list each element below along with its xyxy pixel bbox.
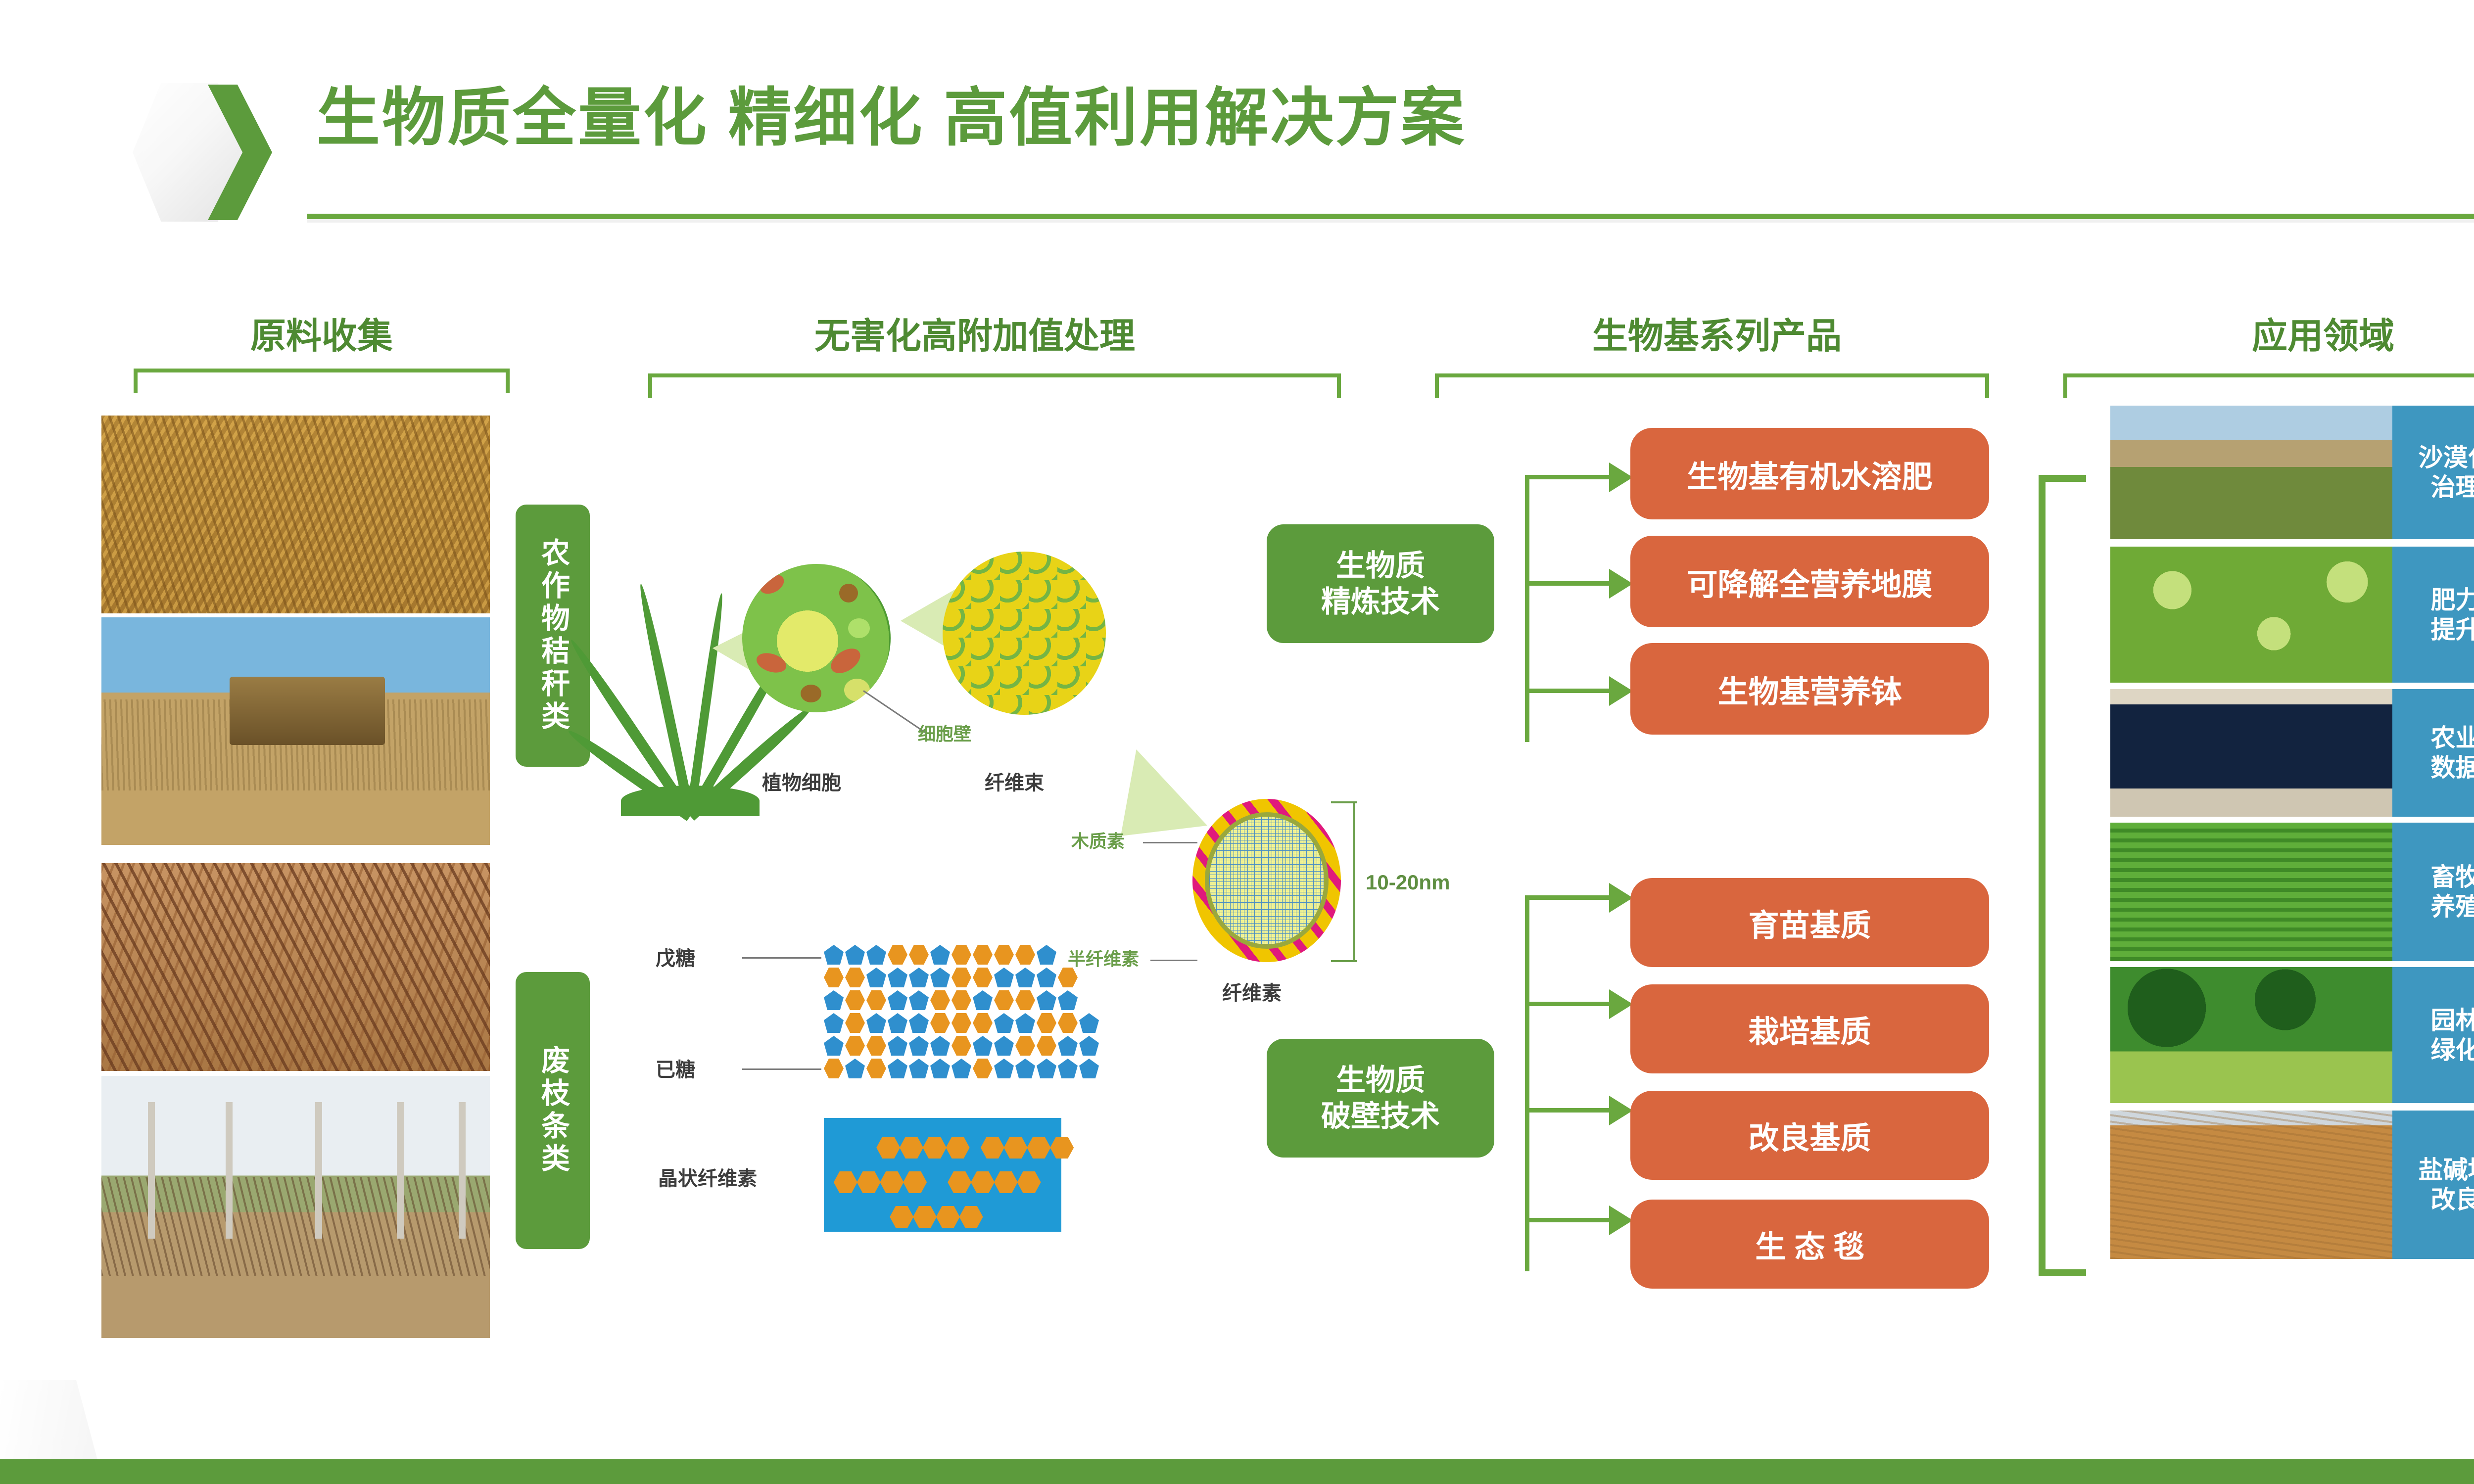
sugar-chain-row (824, 1013, 1100, 1034)
pentose-unit (994, 968, 1014, 987)
product-box-seedling-substrate[interactable]: 育苗基质 (1630, 878, 1989, 967)
label-fiber-bundle: 纤维束 (985, 767, 1044, 795)
hexose-unit (930, 990, 950, 1010)
glucose-unit (994, 1171, 1018, 1193)
glucose-unit (981, 1137, 1004, 1159)
section-label-products: 生物基系列产品 (1420, 307, 2014, 359)
footer-bar (0, 1459, 2474, 1484)
connector-branch-cellwall-3 (1525, 1108, 1614, 1113)
glucose-unit (857, 1171, 881, 1193)
hexose-unit (1015, 990, 1035, 1010)
crystalline-cellulose-panel (824, 1118, 1061, 1232)
hexose-unit (930, 1013, 950, 1033)
zoom-cone-fiber (1121, 749, 1207, 836)
pentose-unit (994, 1059, 1014, 1078)
hexose-unit (1037, 1036, 1056, 1056)
dimension-line (1353, 801, 1355, 962)
application-row-landscaping[interactable]: 园林 绿化 (2110, 967, 2474, 1103)
organelle (844, 679, 870, 701)
glucose-unit (1050, 1137, 1074, 1159)
pentose-unit (824, 1036, 844, 1056)
label-cell-wall: 细胞壁 (918, 720, 971, 745)
pentose-unit (824, 990, 844, 1010)
label-lignin: 木质素 (1071, 827, 1125, 853)
hexose-unit (824, 968, 844, 987)
pentose-unit (845, 1059, 865, 1078)
sugar-chain-row (824, 945, 1058, 966)
pentose-unit (1037, 968, 1056, 987)
organelle (801, 685, 821, 702)
app-label-line2: 提升 (2431, 615, 2474, 645)
hexose-unit (973, 945, 993, 965)
fence-post (459, 1102, 466, 1239)
pentose-unit (1015, 1059, 1035, 1078)
arrow-refining-1 (1609, 463, 1633, 492)
organelle (826, 644, 864, 678)
tech-cellwall-line1: 生物质 (1321, 1062, 1440, 1098)
pentose-unit (866, 945, 886, 965)
label-cellulose: 纤维素 (1222, 977, 1282, 1006)
pentose-unit (866, 1013, 886, 1033)
title-underline-shadow (307, 219, 2474, 223)
fence-post (397, 1102, 404, 1239)
pentose-unit (909, 990, 929, 1010)
grass-tuft (621, 786, 760, 816)
hexose-unit (866, 1036, 886, 1056)
hexose-unit (994, 945, 1014, 965)
pentose-unit (1037, 1059, 1056, 1078)
connector-trunk-cellwall (1525, 895, 1529, 1271)
hexose-unit (1015, 945, 1035, 965)
section-label-applications: 应用领域 (2108, 307, 2474, 359)
fence-post (148, 1102, 155, 1239)
hexose-unit (1058, 968, 1078, 987)
connector-branch-refining-3 (1525, 689, 1614, 693)
pentose-leader-line (742, 957, 821, 959)
label-pentose: 戊糖 (656, 942, 695, 971)
glucose-unit (946, 1137, 970, 1159)
application-row-fertility[interactable]: 肥力 提升 (2110, 547, 2474, 683)
photo-desertification-control (2110, 406, 2392, 539)
hexose-unit (1058, 1013, 1078, 1033)
lignin-leader-line (1143, 842, 1197, 843)
arrow-refining-2 (1609, 569, 1633, 599)
pentose-unit (1058, 1036, 1078, 1056)
sugar-chain-row (824, 1036, 1100, 1057)
glucose-unit (1017, 1171, 1041, 1193)
hexose-unit (888, 945, 907, 965)
sugar-chain-row (824, 990, 1079, 1011)
applications-bracket (2039, 475, 2086, 1276)
tech-box-refining[interactable]: 生物质 精炼技术 (1267, 524, 1494, 643)
pentose-unit (888, 1036, 907, 1056)
glucose-unit (936, 1206, 960, 1228)
hexose-unit (952, 945, 971, 965)
pentose-unit (952, 1059, 971, 1078)
section-label-processing: 无害化高附加值处理 (628, 307, 1321, 359)
glucose-unit (876, 1137, 900, 1159)
glucose-unit (890, 1206, 913, 1228)
feedstock-chip-waste-branch: 废枝条类 (516, 972, 590, 1249)
sugar-chain-illustration (824, 945, 1101, 1093)
connector-branch-refining-2 (1525, 581, 1614, 586)
app-label-line1: 盐碱地 (2419, 1155, 2474, 1185)
product-box-water-soluble-fertilizer[interactable]: 生物基有机水溶肥 (1630, 428, 1989, 519)
pentose-unit (1079, 1059, 1099, 1078)
hexose-leader-line (742, 1068, 821, 1070)
application-chip-livestock[interactable]: 畜牧 养殖 (2392, 823, 2474, 961)
pentose-unit (1079, 1036, 1099, 1056)
glucose-unit (1004, 1137, 1028, 1159)
hexose-unit (845, 1036, 865, 1056)
photo-saline-alkali-soil (2110, 1111, 2392, 1259)
bale-shape (230, 677, 385, 745)
arrow-cellwall-4 (1609, 1206, 1633, 1235)
plant-illustration (636, 539, 745, 816)
app-label-line1: 肥力 (2431, 585, 2474, 615)
glucose-unit (948, 1171, 971, 1193)
organelle (839, 584, 858, 603)
pentose-unit (909, 1059, 929, 1078)
app-label-line1: 沙漠化 (2419, 443, 2474, 472)
pentose-unit (973, 1036, 993, 1056)
application-chip-landscaping[interactable]: 园林 绿化 (2392, 967, 2474, 1103)
app-label-line1: 园林 (2431, 1006, 2474, 1035)
hexose-unit (866, 990, 886, 1010)
cell-wall-leader-line (863, 690, 925, 733)
pentose-unit (909, 1036, 929, 1056)
pentose-unit (930, 1036, 950, 1056)
connector-branch-cellwall-2 (1525, 1002, 1614, 1006)
photo-corn-stalks (101, 416, 490, 613)
photo-straw-bale (101, 617, 490, 845)
tech-box-cellwall-breaking[interactable]: 生物质 破壁技术 (1267, 1039, 1494, 1158)
application-chip-fertility[interactable]: 肥力 提升 (2392, 547, 2474, 683)
plant-cell-illustration (742, 564, 891, 712)
glucose-unit (880, 1171, 904, 1193)
photo-park-landscape (2110, 967, 2392, 1103)
title-underline (307, 214, 2474, 219)
app-label-line2: 数据 (2431, 753, 2474, 783)
application-row-livestock[interactable]: 畜牧 养殖 (2110, 823, 2474, 961)
application-chip-desertification[interactable]: 沙漠化 治理 (2392, 406, 2474, 539)
application-chip-agri-data[interactable]: 农业 数据 (2392, 689, 2474, 817)
pentose-unit (1079, 1013, 1099, 1033)
pentose-unit (888, 968, 907, 987)
pentose-unit (930, 1059, 950, 1078)
product-box-improvement-substrate[interactable]: 改良基质 (1630, 1091, 1989, 1180)
page-title: 生物质全量化 精细化 高值利用解决方案 (317, 87, 1466, 150)
label-hexose: 已糖 (656, 1054, 695, 1082)
application-chip-saline-soil[interactable]: 盐碱地 改良 (2392, 1111, 2474, 1259)
pentose-unit (888, 1013, 907, 1033)
pentose-unit (909, 1013, 929, 1033)
glucose-unit (971, 1171, 995, 1193)
pentose-unit (973, 990, 993, 1010)
hexose-unit (866, 1059, 886, 1078)
arrow-cellwall-2 (1609, 989, 1633, 1019)
hexose-unit (845, 1013, 865, 1033)
arrow-cellwall-3 (1609, 1096, 1633, 1125)
pentose-unit (1015, 968, 1035, 987)
photo-cabbage-field (2110, 547, 2392, 683)
photo-pruned-branches (101, 863, 490, 1071)
photo-orchard-pruning (101, 1076, 490, 1338)
connector-branch-cellwall-1 (1525, 895, 1614, 900)
pentose-unit (888, 990, 907, 1010)
app-label-line2: 绿化 (2431, 1035, 2474, 1065)
section-bracket-feedstock (134, 369, 510, 393)
section-bracket-processing (648, 373, 1341, 398)
feedstock-chip-crop-straw: 农作物秸秆类 (516, 505, 590, 767)
hexose-unit (973, 1013, 993, 1033)
connector-branch-refining-1 (1525, 475, 1614, 479)
hexose-unit (994, 990, 1014, 1010)
label-plant-cell: 植物细胞 (762, 767, 841, 795)
section-label-feedstock: 原料收集 (129, 307, 515, 359)
hexose-unit (973, 968, 993, 987)
pentose-unit (930, 968, 950, 987)
hexose-unit (824, 1059, 844, 1078)
pentose-unit (930, 945, 950, 965)
hexose-unit (952, 1013, 971, 1033)
pentose-unit (909, 968, 929, 987)
pentose-unit (824, 945, 844, 965)
cellulose-core (1209, 817, 1324, 944)
arrow-cellwall-1 (1609, 883, 1633, 913)
app-label-line1: 畜牧 (2431, 862, 2474, 892)
cellulose-fiber-cross-section (1192, 799, 1341, 962)
glucose-unit (1027, 1137, 1050, 1159)
pentose-unit (994, 1013, 1014, 1033)
tech-refining-line1: 生物质 (1321, 548, 1440, 584)
connector-branch-cellwall-4 (1525, 1218, 1614, 1222)
pentose-unit (866, 968, 886, 987)
application-row-agri-data[interactable]: 农业 数据 (2110, 689, 2474, 817)
app-label-line2: 养殖 (2431, 892, 2474, 922)
app-label-line2: 治理 (2419, 472, 2474, 502)
hexagon-chevron-logo-icon (133, 83, 276, 222)
hexose-unit (952, 990, 971, 1010)
hexose-unit (1037, 1013, 1056, 1033)
organelle (754, 649, 789, 676)
pentose-unit (994, 1036, 1014, 1056)
label-fiber-dimension: 10-20nm (1366, 871, 1450, 894)
tech-refining-line2: 精炼技术 (1321, 584, 1440, 620)
pentose-unit (1058, 1059, 1078, 1078)
hexose-unit (973, 1059, 993, 1078)
glucose-unit (923, 1137, 947, 1159)
page-header: 生物质全量化 精细化 高值利用解决方案 (0, 0, 2474, 237)
glucose-unit (903, 1171, 927, 1193)
application-row-saline-soil[interactable]: 盐碱地 改良 (2110, 1111, 2474, 1259)
product-box-nutrient-pot[interactable]: 生物基营养钵 (1630, 643, 1989, 735)
arrow-refining-3 (1609, 676, 1633, 706)
app-label-line2: 改良 (2419, 1185, 2474, 1214)
fiber-bundle-illustration (943, 552, 1106, 715)
hexose-unit (1015, 1036, 1035, 1056)
application-row-desertification[interactable]: 沙漠化 治理 (2110, 406, 2474, 539)
pentose-unit (824, 1013, 844, 1033)
hexose-unit (845, 968, 865, 987)
hexose-unit (952, 1036, 971, 1056)
fence-post (226, 1102, 233, 1239)
pentose-unit (1015, 1013, 1035, 1033)
sugar-chain-row (824, 968, 1079, 988)
fence-post (315, 1102, 322, 1239)
section-bracket-products (1435, 373, 1989, 398)
product-box-cultivation-substrate[interactable]: 栽培基质 (1630, 984, 1989, 1073)
glucose-unit (959, 1206, 983, 1228)
product-box-ecological-blanket[interactable]: 生 态 毯 (1630, 1200, 1989, 1289)
hemicellulose-leader-line (1150, 960, 1197, 961)
hexose-unit (952, 968, 971, 987)
glucose-unit (834, 1171, 857, 1193)
pentose-unit (1037, 990, 1056, 1010)
tech-cellwall-line2: 破壁技术 (1321, 1098, 1440, 1134)
organelle (757, 571, 787, 598)
organelle (848, 618, 870, 638)
app-label-line1: 农业 (2431, 723, 2474, 753)
section-bracket-applications (2063, 373, 2474, 398)
hexose-unit (845, 990, 865, 1010)
photo-agriculture-data-center (2110, 689, 2392, 817)
glucose-unit (913, 1206, 937, 1228)
product-box-biodegradable-mulch-film[interactable]: 可降解全营养地膜 (1630, 536, 1989, 627)
pentose-unit (1058, 990, 1078, 1010)
label-crystalline-cellulose: 晶状纤维素 (658, 1162, 757, 1191)
sugar-chain-row (824, 1059, 1100, 1079)
dimension-tick-bottom (1331, 960, 1357, 962)
pentose-unit (1037, 945, 1056, 965)
pentose-unit (845, 945, 865, 965)
pentose-unit (888, 1059, 907, 1078)
hexose-unit (909, 945, 929, 965)
photo-sheep-grazing (2110, 823, 2392, 961)
connector-trunk-refining (1525, 475, 1529, 742)
glucose-unit (900, 1137, 923, 1159)
